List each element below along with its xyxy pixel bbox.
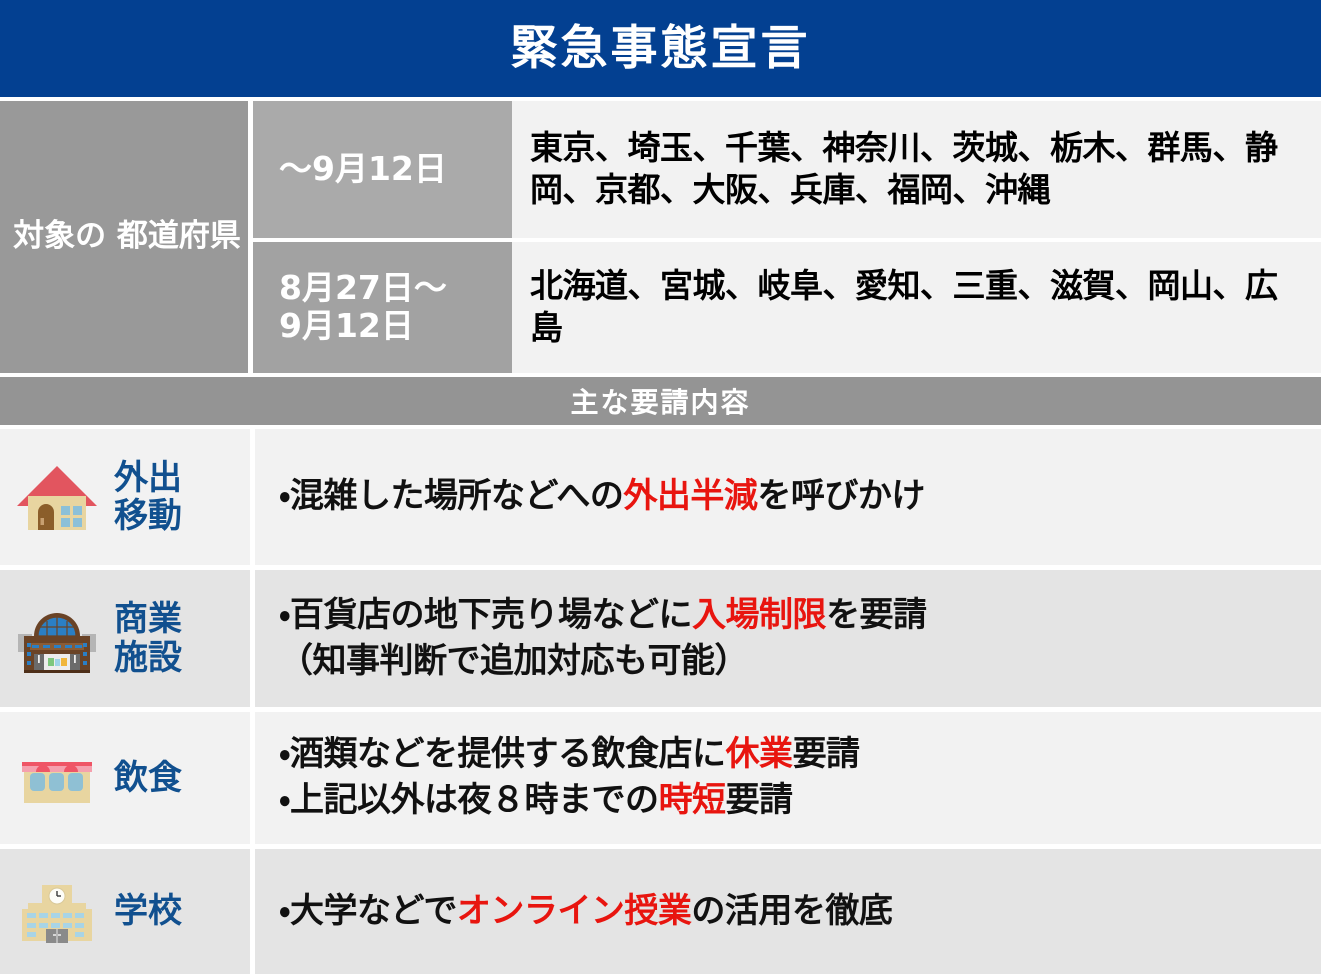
request-text: 要請 (726, 780, 793, 820)
prefectures-cell: 東京、埼玉、千葉、神奈川、茨城、栃木、群馬、静岡、京都、大阪、兵庫、福岡、沖縄 (512, 101, 1321, 238)
request-text: を要請 (826, 595, 927, 635)
request-line: ・上記以外は夜８時までの時短要請 (279, 778, 1307, 824)
request-text: ・大学などで (279, 891, 457, 931)
request-text-cell: ・大学などでオンライン授業の活用を徹底 (255, 849, 1321, 974)
request-line: ・大学などでオンライン授業の活用を徹底 (279, 889, 1307, 935)
request-text-cell: ・混雑した場所などへの外出半減を呼びかけ (255, 429, 1321, 565)
category-label: 飲食 (114, 759, 182, 797)
prefecture-rows: 〜9月12日 東京、埼玉、千葉、神奈川、茨城、栃木、群馬、静岡、京都、大阪、兵庫… (248, 101, 1321, 373)
infographic-root: 緊急事態宣言 対象の 都道府県 〜9月12日 東京、埼玉、千葉、神奈川、茨城、栃… (0, 0, 1321, 970)
category-label: 商業 施設 (114, 600, 182, 676)
prefectures-cell: 北海道、宮城、岐阜、愛知、三重、滋賀、岡山、広島 (512, 242, 1321, 373)
request-text: ・酒類などを提供する飲食店に (279, 734, 726, 774)
request-text: の活用を徹底 (691, 891, 892, 931)
list-item: 学校 ・大学などでオンライン授業の活用を徹底 (0, 849, 1321, 974)
category-cell: 飲食 (0, 712, 250, 844)
table-row: 8月27日〜 9月12日 北海道、宮城、岐阜、愛知、三重、滋賀、岡山、広島 (248, 242, 1321, 373)
shopping-mall-icon (14, 596, 100, 682)
title-banner: 緊急事態宣言 (0, 0, 1321, 97)
category-cell: 外出 移動 (0, 429, 250, 565)
target-prefectures-table: 対象の 都道府県 〜9月12日 東京、埼玉、千葉、神奈川、茨城、栃木、群馬、静岡… (0, 101, 1321, 373)
request-text-cell: ・酒類などを提供する飲食店に休業要請 ・上記以外は夜８時までの時短要請 (255, 712, 1321, 844)
request-highlight: 時短 (659, 780, 726, 820)
request-highlight: 休業 (726, 734, 793, 774)
table-row: 〜9月12日 東京、埼玉、千葉、神奈川、茨城、栃木、群馬、静岡、京都、大阪、兵庫… (248, 101, 1321, 238)
category-label: 外出 移動 (114, 459, 182, 535)
request-text: を呼びかけ (757, 476, 925, 516)
request-text: ・上記以外は夜８時までの (279, 780, 659, 820)
request-text: ・百貨店の地下売り場などに (279, 595, 692, 635)
requests-section-title: 主な要請内容 (570, 381, 750, 421)
target-prefectures-label: 対象の 都道府県 (0, 101, 248, 373)
request-text: ・混雑した場所などへの (279, 476, 623, 516)
list-item: 外出 移動 ・混雑した場所などへの外出半減を呼びかけ (0, 429, 1321, 565)
restaurant-icon (14, 735, 100, 821)
house-icon (14, 454, 100, 540)
request-text: （知事判断で追加対応も可能） (279, 641, 748, 681)
requests-section-header: 主な要請内容 (0, 377, 1321, 425)
requests-list: 外出 移動 ・混雑した場所などへの外出半減を呼びかけ (0, 429, 1321, 979)
request-line: （知事判断で追加対応も可能） (279, 639, 1307, 685)
request-line: ・百貨店の地下売り場などに入場制限を要請 (279, 593, 1307, 639)
list-item: 商業 施設 ・百貨店の地下売り場などに入場制限を要請 （知事判断で追加対応も可能… (0, 570, 1321, 707)
period-cell: 〜9月12日 (253, 101, 512, 238)
request-highlight: 外出半減 (623, 476, 757, 516)
list-item: 飲食 ・酒類などを提供する飲食店に休業要請 ・上記以外は夜８時までの時短要請 (0, 712, 1321, 844)
school-icon (14, 869, 100, 955)
request-line: ・混雑した場所などへの外出半減を呼びかけ (279, 474, 1307, 520)
request-highlight: 入場制限 (692, 595, 826, 635)
category-cell: 商業 施設 (0, 570, 250, 707)
page-title: 緊急事態宣言 (511, 25, 811, 72)
request-text: 要請 (793, 734, 860, 774)
request-highlight: オンライン授業 (457, 891, 692, 931)
category-cell: 学校 (0, 849, 250, 974)
category-label: 学校 (114, 892, 182, 930)
request-text-cell: ・百貨店の地下売り場などに入場制限を要請 （知事判断で追加対応も可能） (255, 570, 1321, 707)
period-cell: 8月27日〜 9月12日 (253, 242, 512, 373)
request-line: ・酒類などを提供する飲食店に休業要請 (279, 732, 1307, 778)
